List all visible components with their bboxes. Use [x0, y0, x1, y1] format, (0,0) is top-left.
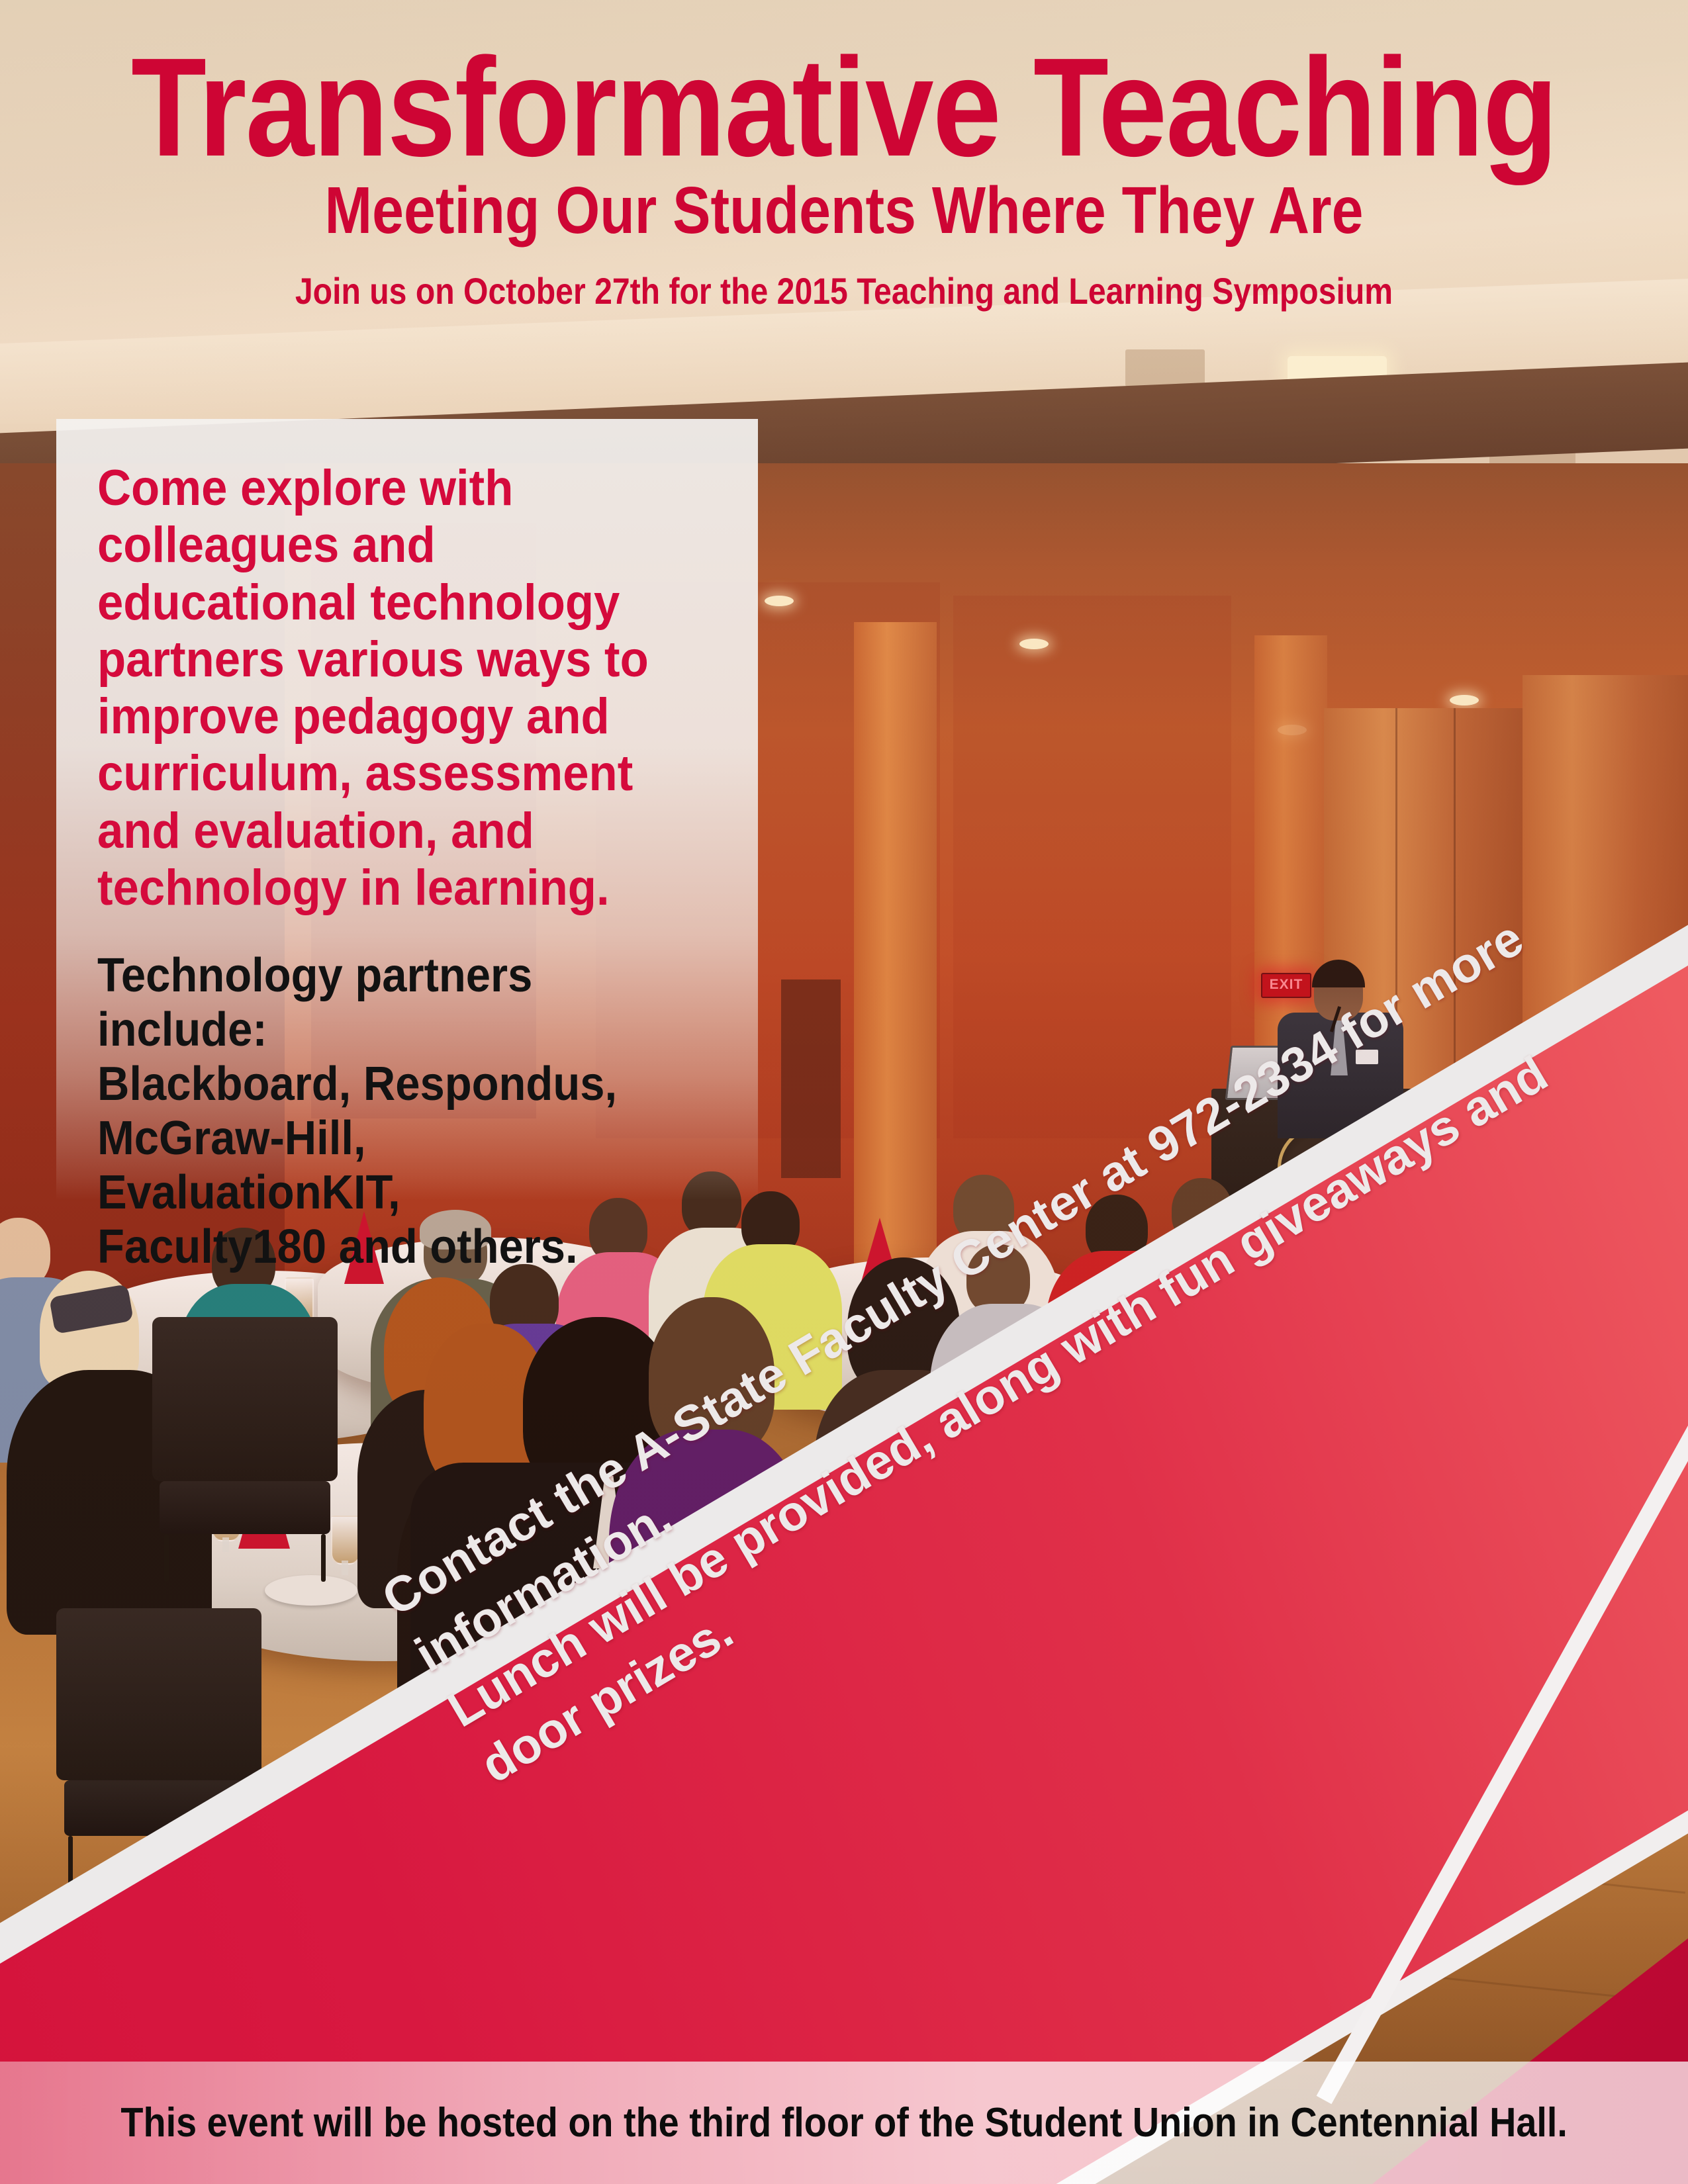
poster-header: Transformative Teaching Meeting Our Stud… [0, 0, 1688, 313]
poster-subtitle: Meeting Our Students Where They Are [118, 175, 1570, 246]
banquet-chair [56, 1608, 261, 1886]
footer-location-text: This event will be hosted on the third f… [120, 2103, 1568, 2144]
banquet-chair [1536, 1430, 1688, 1674]
banquet-chair [152, 1317, 338, 1582]
poster-title: Transformative Teaching [101, 0, 1587, 175]
banquet-chair [914, 1542, 1105, 1813]
banquet-chair [1125, 1469, 1311, 1734]
poster-tagline: Join us on October 27th for the 2015 Tea… [118, 246, 1570, 313]
banquet-chair [1337, 1535, 1529, 1807]
wall-downlight [1450, 695, 1479, 705]
poster-canvas: EXIT [0, 0, 1688, 2184]
exit-sign: EXIT [1261, 973, 1311, 998]
wall-door [781, 979, 841, 1178]
wall-downlight [765, 596, 794, 606]
ceiling-vent [1125, 349, 1205, 387]
wall-downlight [1019, 639, 1049, 649]
info-panel: Come explore with colleagues and educati… [56, 419, 758, 1200]
footer-bar: This event will be hosted on the third f… [0, 2062, 1688, 2184]
exit-sign-label: EXIT [1262, 974, 1310, 995]
info-panel-partners-text: Technology partners include: Blackboard,… [97, 948, 679, 1274]
info-panel-lead-text: Come explore with colleagues and educati… [97, 460, 679, 917]
wall-panel [953, 596, 1231, 1138]
